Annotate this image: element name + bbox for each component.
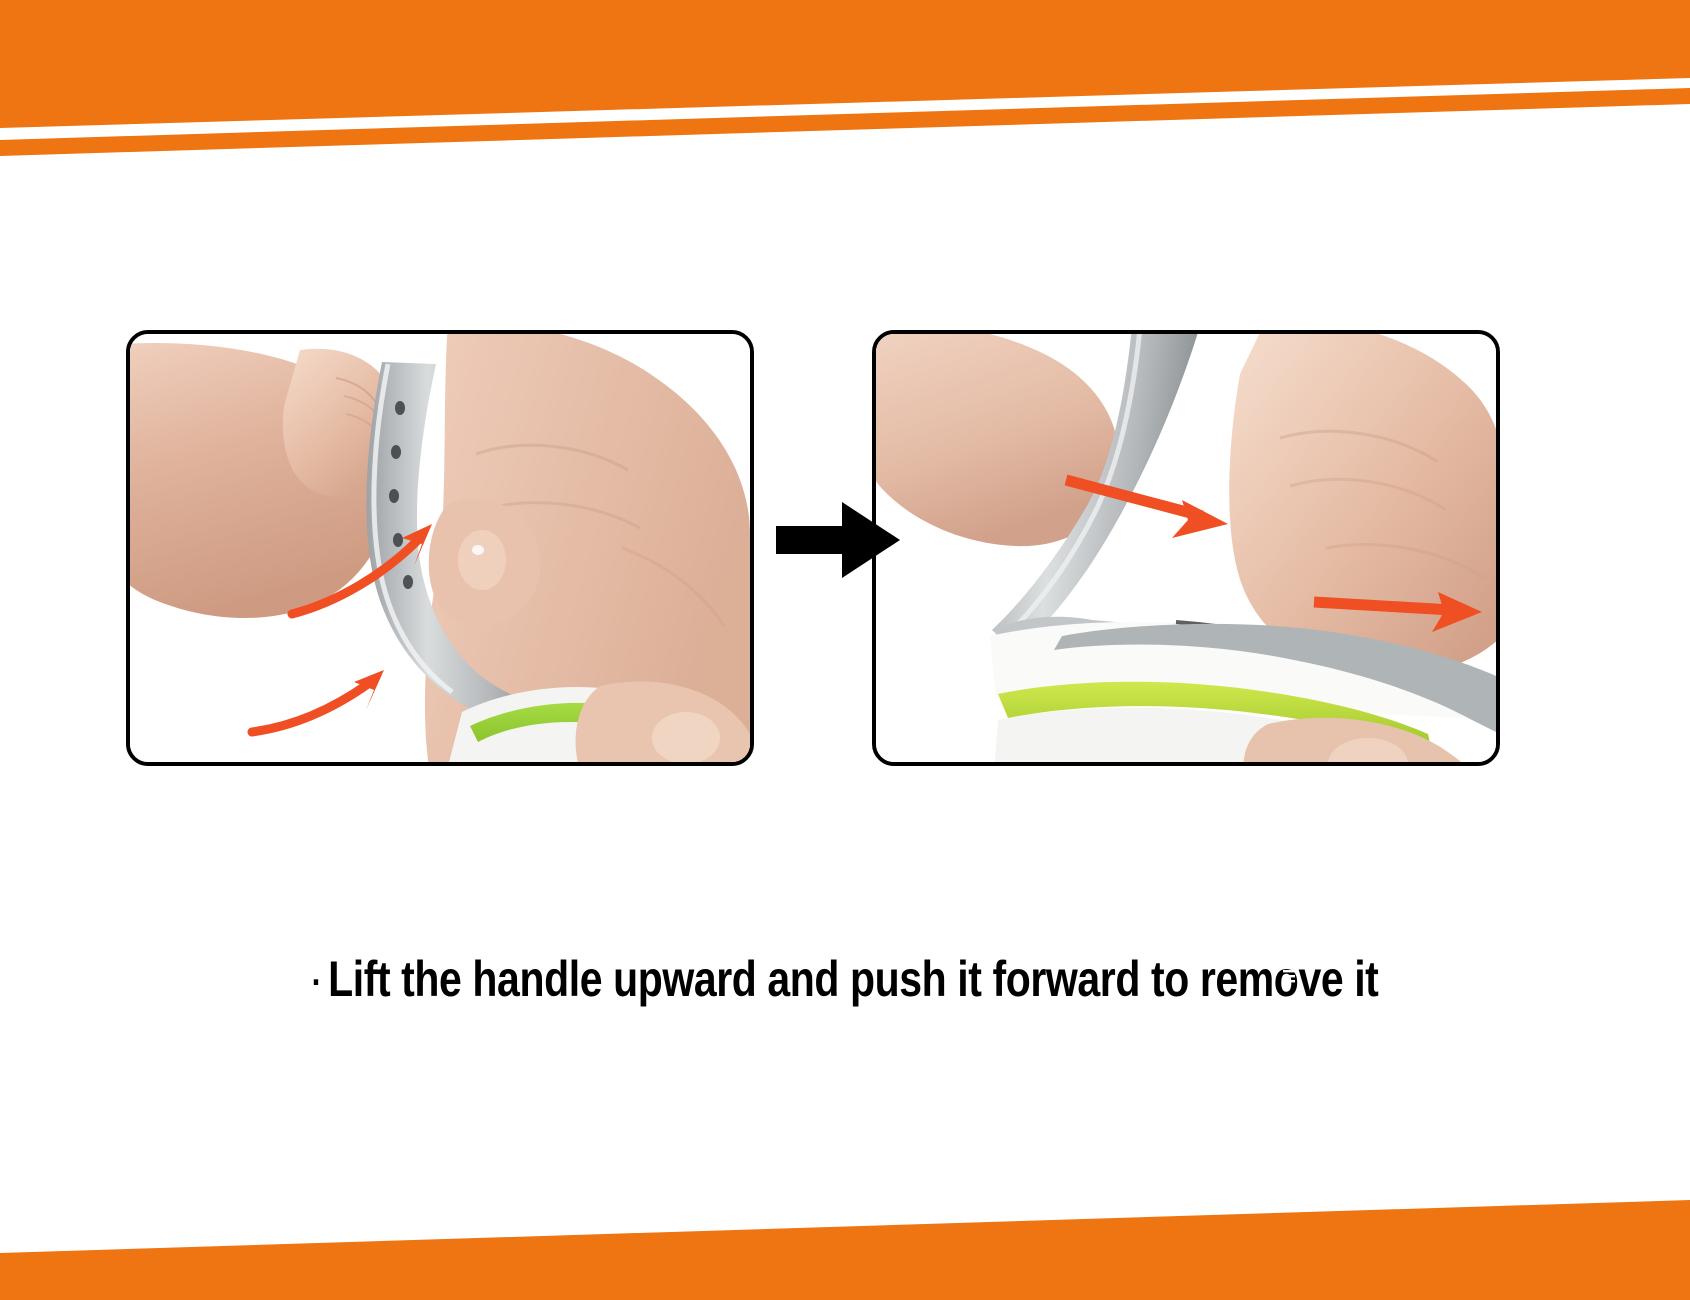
caption: ·Lift the handle upward and push it forw… <box>152 948 1538 1014</box>
step-1-photo-panel <box>126 330 754 766</box>
black-right-arrow-icon <box>776 498 900 582</box>
caption-text: Lift the handle upward and push it forwa… <box>328 951 1378 1007</box>
step-2-photo-panel <box>872 330 1500 766</box>
step-2-right-hand <box>1229 334 1496 677</box>
step-1-photo <box>130 334 750 762</box>
black-right-arrow <box>776 498 900 582</box>
steps-container <box>0 0 1690 1300</box>
slide-canvas: ·Lift the handle upward and push it forw… <box>0 0 1690 1300</box>
step-2-photo <box>876 334 1496 762</box>
caption-bullet: · <box>312 962 329 1004</box>
